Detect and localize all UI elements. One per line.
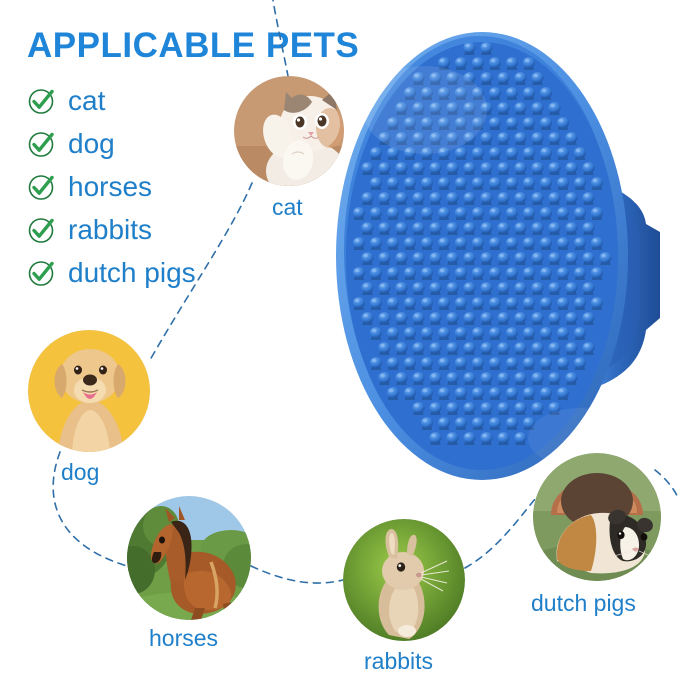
- pet-node-dutch-pigs[interactable]: dutch pigs: [533, 453, 661, 581]
- brush-illustration: [330, 18, 670, 508]
- pet-node-rabbits[interactable]: rabbits: [343, 519, 465, 641]
- checklist-item-label: horses: [68, 173, 152, 201]
- page-title: APPLICABLE PETS: [27, 26, 359, 66]
- check-circle-icon: [27, 87, 55, 115]
- checklist-item: rabbits: [27, 208, 287, 251]
- checklist-item-label: cat: [68, 87, 105, 115]
- pet-label-rabbits: rabbits: [364, 650, 433, 673]
- pet-grooming-brush-image: [330, 18, 670, 508]
- product-infographic: APPLICABLE PETS cat dog: [0, 0, 679, 679]
- pet-node-dog[interactable]: dog: [28, 330, 150, 452]
- pet-photo-rabbits[interactable]: [343, 519, 465, 641]
- checklist-item-label: dog: [68, 130, 115, 158]
- check-circle-icon: [27, 173, 55, 201]
- pet-photo-dutch-pigs[interactable]: [533, 453, 661, 581]
- check-circle-icon: [27, 259, 55, 287]
- check-circle-icon: [27, 130, 55, 158]
- checklist-item-label: rabbits: [68, 216, 152, 244]
- pet-label-dog: dog: [61, 461, 99, 484]
- pet-label-dutch-pigs: dutch pigs: [531, 592, 636, 615]
- pet-photo-dog[interactable]: [28, 330, 150, 452]
- checklist-item-label: dutch pigs: [68, 259, 196, 287]
- pet-label-horses: horses: [149, 627, 218, 650]
- check-circle-icon: [27, 216, 55, 244]
- pet-node-horses[interactable]: horses: [127, 496, 251, 620]
- checklist-item: dutch pigs: [27, 251, 287, 294]
- pet-label-cat: cat: [272, 196, 303, 219]
- pet-photo-horses[interactable]: [127, 496, 251, 620]
- pet-node-cat[interactable]: cat: [234, 76, 344, 186]
- pet-photo-cat[interactable]: [234, 76, 344, 186]
